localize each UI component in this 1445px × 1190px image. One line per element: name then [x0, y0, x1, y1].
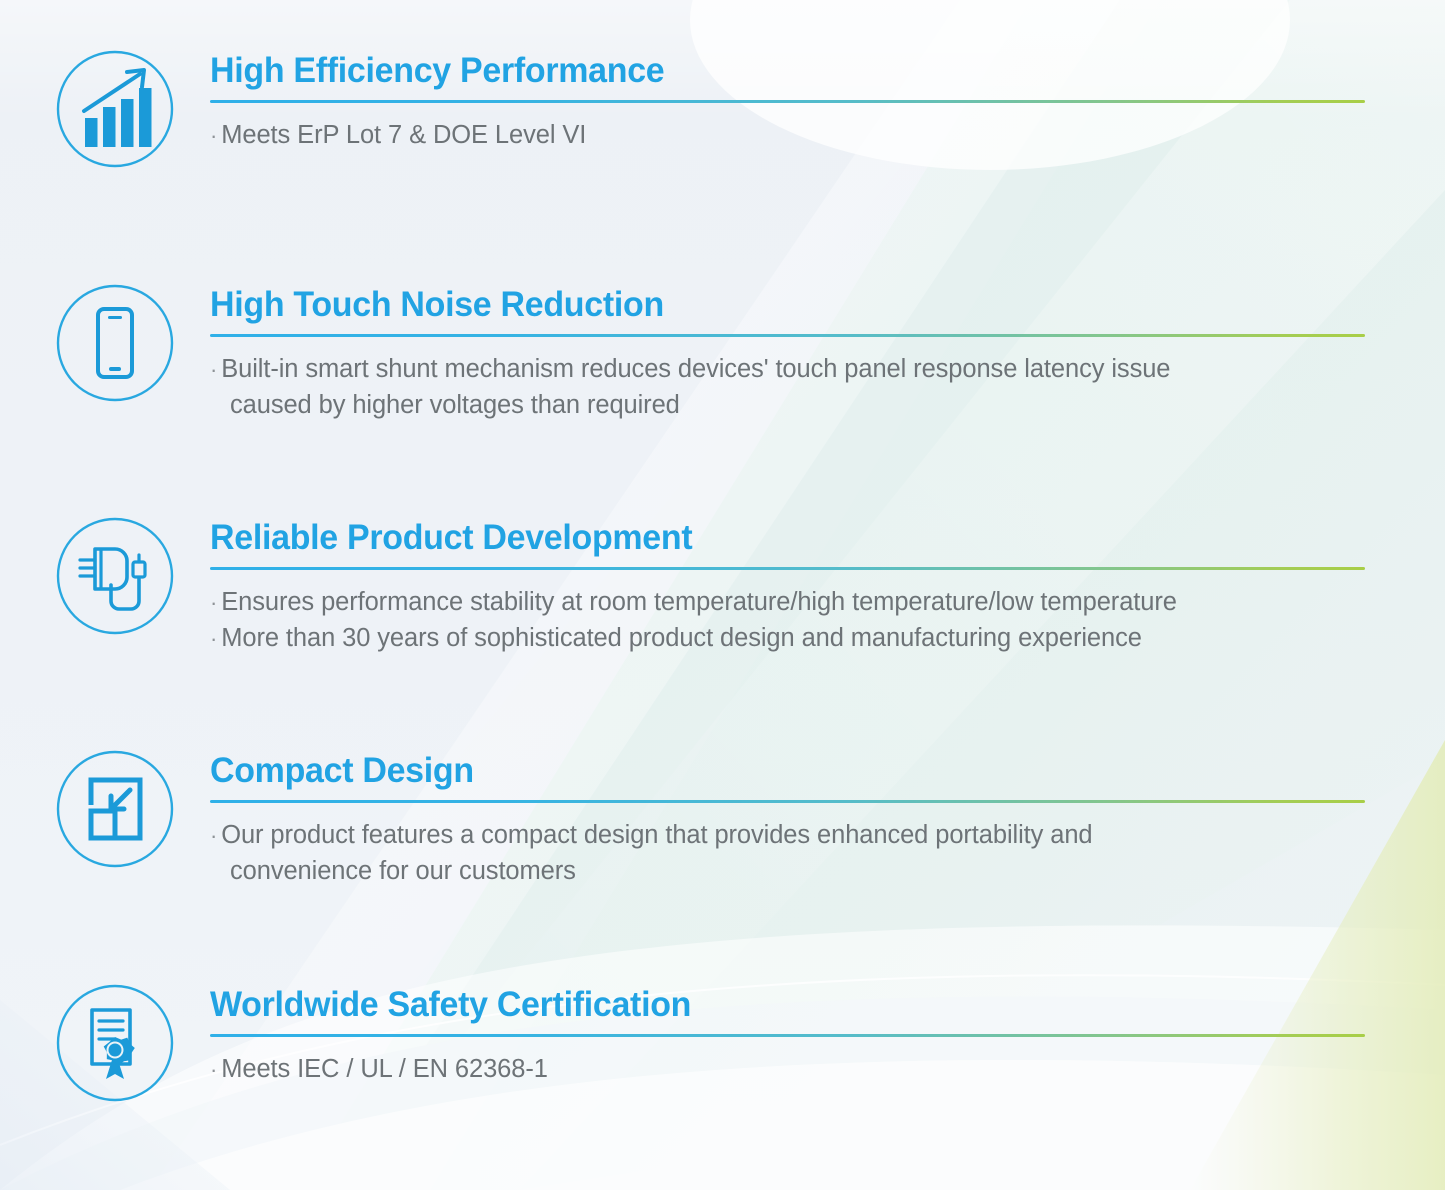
power-adapter-icon	[54, 515, 176, 637]
feature-bullets: ·Our product features a compact design t…	[210, 817, 1366, 889]
bar-chart-growth-icon	[54, 48, 176, 170]
feature-bullets: ·Ensures performance stability at room t…	[210, 584, 1366, 656]
feature-content: Compact Design ·Our product features a c…	[210, 748, 1366, 889]
feature-bullets: ·Meets ErP Lot 7 & DOE Level VI	[210, 117, 1366, 153]
compact-resize-icon	[54, 748, 176, 870]
bullet-text: Meets IEC / UL / EN 62368-1	[221, 1055, 548, 1083]
bullet-item: ·Meets ErP Lot 7 & DOE Level VI	[210, 117, 1366, 153]
feature-list: High Efficiency Performance ·Meets ErP L…	[0, 0, 1445, 1190]
feature-title: High Touch Noise Reduction	[210, 286, 1331, 324]
bullet-marker: ·	[210, 123, 217, 148]
feature-title: Compact Design	[210, 752, 1331, 790]
feature-row: Worldwide Safety Certification ·Meets IE…	[0, 982, 1445, 1104]
feature-bullets: ·Built-in smart shunt mechanism reduces …	[210, 351, 1366, 423]
feature-title: High Efficiency Performance	[210, 52, 1331, 90]
feature-row: Reliable Product Development ·Ensures pe…	[0, 515, 1445, 656]
bullet-marker: ·	[210, 590, 217, 615]
feature-content: Reliable Product Development ·Ensures pe…	[210, 515, 1366, 656]
bullet-text: Built-in smart shunt mechanism reduces d…	[221, 355, 1170, 383]
bullet-item: ·More than 30 years of sophisticated pro…	[210, 620, 1366, 656]
bullet-text: Ensures performance stability at room te…	[221, 588, 1177, 616]
bullet-text: More than 30 years of sophisticated prod…	[221, 624, 1142, 652]
feature-title: Reliable Product Development	[210, 519, 1331, 557]
bullet-text: Meets ErP Lot 7 & DOE Level VI	[221, 121, 586, 149]
feature-divider	[210, 100, 1365, 103]
bullet-item: ·Ensures performance stability at room t…	[210, 584, 1366, 620]
feature-row: High Touch Noise Reduction ·Built-in sma…	[0, 282, 1445, 423]
feature-content: High Touch Noise Reduction ·Built-in sma…	[210, 282, 1366, 423]
feature-divider	[210, 334, 1365, 337]
bullet-marker: ·	[210, 1057, 217, 1082]
smartphone-icon	[54, 282, 176, 404]
bullet-marker: ·	[210, 823, 217, 848]
bullet-text-continued: convenience for our customers	[210, 853, 1366, 889]
feature-row: Compact Design ·Our product features a c…	[0, 748, 1445, 889]
bullet-marker: ·	[210, 357, 217, 382]
feature-row: High Efficiency Performance ·Meets ErP L…	[0, 48, 1445, 170]
bullet-marker: ·	[210, 626, 217, 651]
feature-title: Worldwide Safety Certification	[210, 986, 1331, 1024]
feature-divider	[210, 1034, 1365, 1037]
bullet-item: ·Our product features a compact design t…	[210, 817, 1366, 853]
feature-content: High Efficiency Performance ·Meets ErP L…	[210, 48, 1366, 153]
bullet-text: Our product features a compact design th…	[221, 821, 1092, 849]
feature-bullets: ·Meets IEC / UL / EN 62368-1	[210, 1051, 1366, 1087]
bullet-item: ·Built-in smart shunt mechanism reduces …	[210, 351, 1366, 387]
certificate-seal-icon	[54, 982, 176, 1104]
feature-divider	[210, 567, 1365, 570]
feature-divider	[210, 800, 1365, 803]
bullet-text-continued: caused by higher voltages than required	[210, 387, 1366, 423]
bullet-item: ·Meets IEC / UL / EN 62368-1	[210, 1051, 1366, 1087]
feature-content: Worldwide Safety Certification ·Meets IE…	[210, 982, 1366, 1087]
